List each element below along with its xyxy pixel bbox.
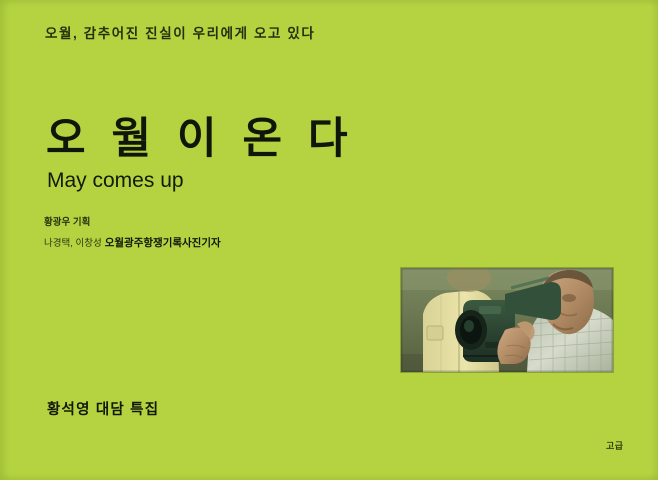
page-title: 오 월 이 온 다 [46,118,355,161]
page-edge-top [0,0,658,7]
camera-operator-photo-graphic [401,268,613,372]
page-subtitle: May comes up [47,170,184,191]
magazine-cover: 오월, 감추어진 진실이 우리에게 오고 있다 오 월 이 온 다 May co… [0,0,658,480]
cover-tagline: 오월, 감추어진 진실이 우리에게 오고 있다 [45,22,315,42]
credit-photographer-names: 나경택, 이창성 [44,238,102,249]
credit-planner: 황광우 기획 [44,218,221,228]
credit-photographers: 나경택, 이창성오월광주항쟁기록사진기자 [44,238,221,250]
page-edge-bottom [0,473,658,480]
corner-mark: 고급 [606,439,624,452]
feature-headline: 황석영 대담 특집 [47,398,159,419]
cover-photo [401,268,613,372]
credits-block: 황광우 기획 나경택, 이창성오월광주항쟁기록사진기자 [44,218,221,250]
credit-photographer-role: 오월광주항쟁기록사진기자 [105,237,221,249]
